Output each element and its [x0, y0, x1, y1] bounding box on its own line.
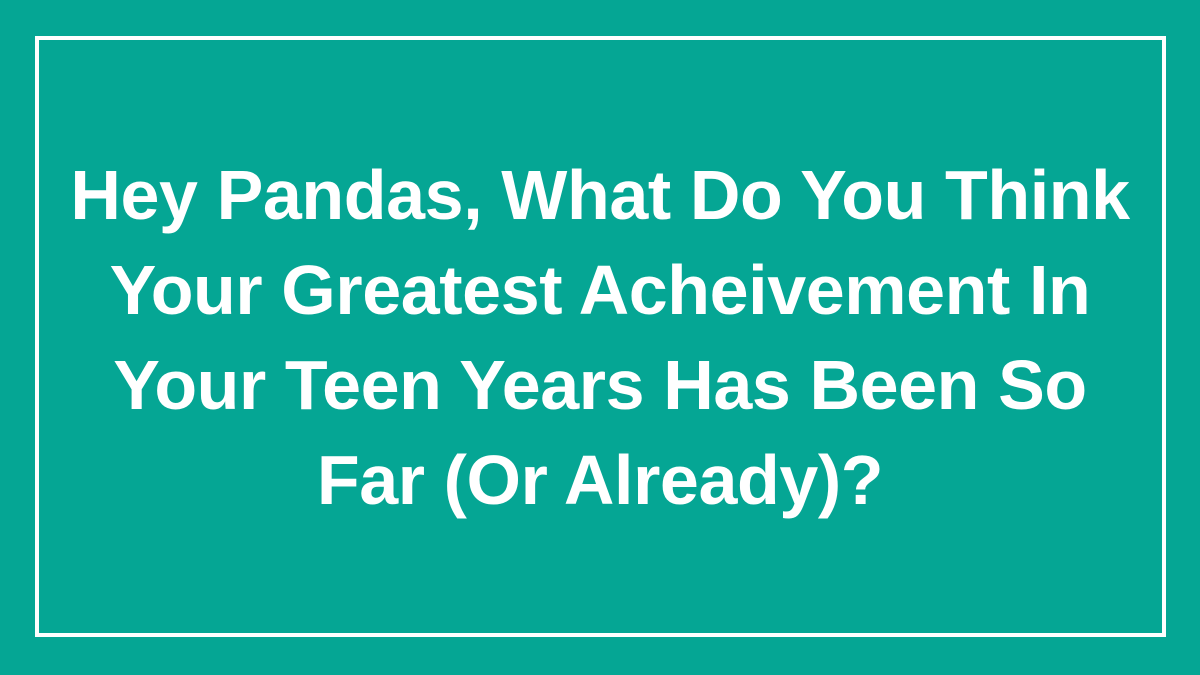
headline-text-block: Hey Pandas, What Do You Think Your Great…: [60, 148, 1140, 528]
headline-line-1: Hey Pandas, What Do You Think: [60, 148, 1140, 243]
headline-line-2: Your Greatest Acheivement In: [60, 243, 1140, 338]
headline-line-3: Your Teen Years Has Been So: [60, 338, 1140, 433]
headline-line-4: Far (Or Already)?: [60, 433, 1140, 528]
poster-canvas: Hey Pandas, What Do You Think Your Great…: [0, 0, 1200, 675]
